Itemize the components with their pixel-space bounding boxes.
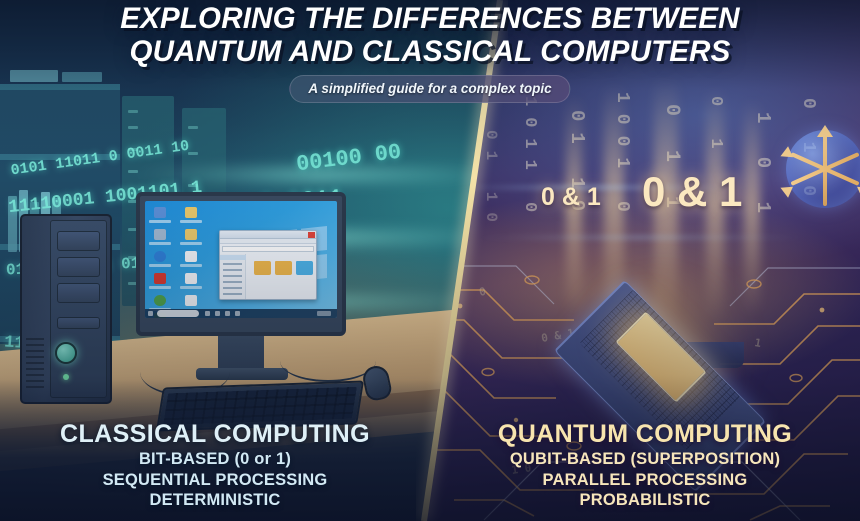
classical-bullet-2: SEQUENTIAL PROCESSING bbox=[0, 470, 430, 491]
quantum-bullet-1: QUBIT-BASED (SUPERPOSITION) bbox=[430, 449, 860, 470]
monitor-screen bbox=[145, 201, 337, 318]
classical-bullet-1: BIT-BASED (0 or 1) bbox=[0, 449, 430, 470]
quantum-bullet-2: PARALLEL PROCESSING bbox=[430, 470, 860, 491]
arrow-head-up bbox=[817, 125, 833, 137]
quantum-bullet-3: PROBABILISTIC bbox=[430, 490, 860, 511]
close-icon bbox=[308, 232, 315, 238]
page-title: EXPLORING THE DIFFERENCES BETWEEN QUANTU… bbox=[0, 2, 860, 68]
classical-bullet-3: DETERMINISTIC bbox=[0, 490, 430, 511]
title-line-1: EXPLORING THE DIFFERENCES BETWEEN bbox=[120, 2, 740, 35]
file-explorer-window bbox=[219, 230, 317, 300]
desktop-icon bbox=[154, 229, 166, 240]
pdf-icon bbox=[154, 273, 166, 284]
folder-icon bbox=[254, 261, 271, 275]
svg-text:0: 0 bbox=[478, 285, 487, 299]
quantum-summary: QUANTUM COMPUTING QUBIT-BASED (SUPERPOSI… bbox=[430, 420, 860, 511]
superposition-label-large: 0 & 1 bbox=[642, 168, 742, 216]
status-led-icon bbox=[63, 374, 69, 380]
classical-summary: CLASSICAL COMPUTING BIT-BASED (0 or 1) S… bbox=[0, 420, 430, 511]
vent-grille bbox=[26, 338, 44, 392]
quantum-heading: QUANTUM COMPUTING bbox=[430, 420, 860, 449]
explorer-nav-pane bbox=[220, 254, 246, 299]
title-line-2: QUANTUM AND CLASSICAL COMPUTERS bbox=[0, 35, 860, 68]
desktop-tower bbox=[20, 214, 112, 404]
infographic-canvas: 0101 11011 0 0011 10 11110001 1001101 1 … bbox=[0, 0, 860, 521]
address-bar bbox=[222, 246, 314, 252]
power-button-icon bbox=[55, 342, 77, 364]
quantum-chip bbox=[540, 268, 780, 418]
mouse-cable bbox=[280, 340, 376, 382]
classical-heading: CLASSICAL COMPUTING bbox=[0, 420, 430, 449]
document-icon bbox=[185, 295, 197, 306]
document-icon bbox=[185, 273, 197, 284]
folder-icon bbox=[296, 261, 313, 275]
superposition-label-small: 0 & 1 bbox=[541, 183, 601, 212]
search-box bbox=[157, 310, 199, 317]
browser-icon bbox=[154, 251, 166, 262]
document-icon bbox=[185, 251, 197, 262]
desktop-icon bbox=[154, 207, 166, 218]
subtitle-badge: A simplified guide for a complex topic bbox=[289, 75, 570, 103]
desktop-icon bbox=[185, 229, 197, 240]
desktop-icon bbox=[185, 207, 197, 218]
folder-icon bbox=[275, 261, 292, 275]
monitor bbox=[136, 192, 346, 336]
chrome-icon bbox=[154, 295, 166, 306]
bloch-sphere-icon bbox=[786, 130, 860, 208]
taskbar bbox=[145, 309, 337, 318]
